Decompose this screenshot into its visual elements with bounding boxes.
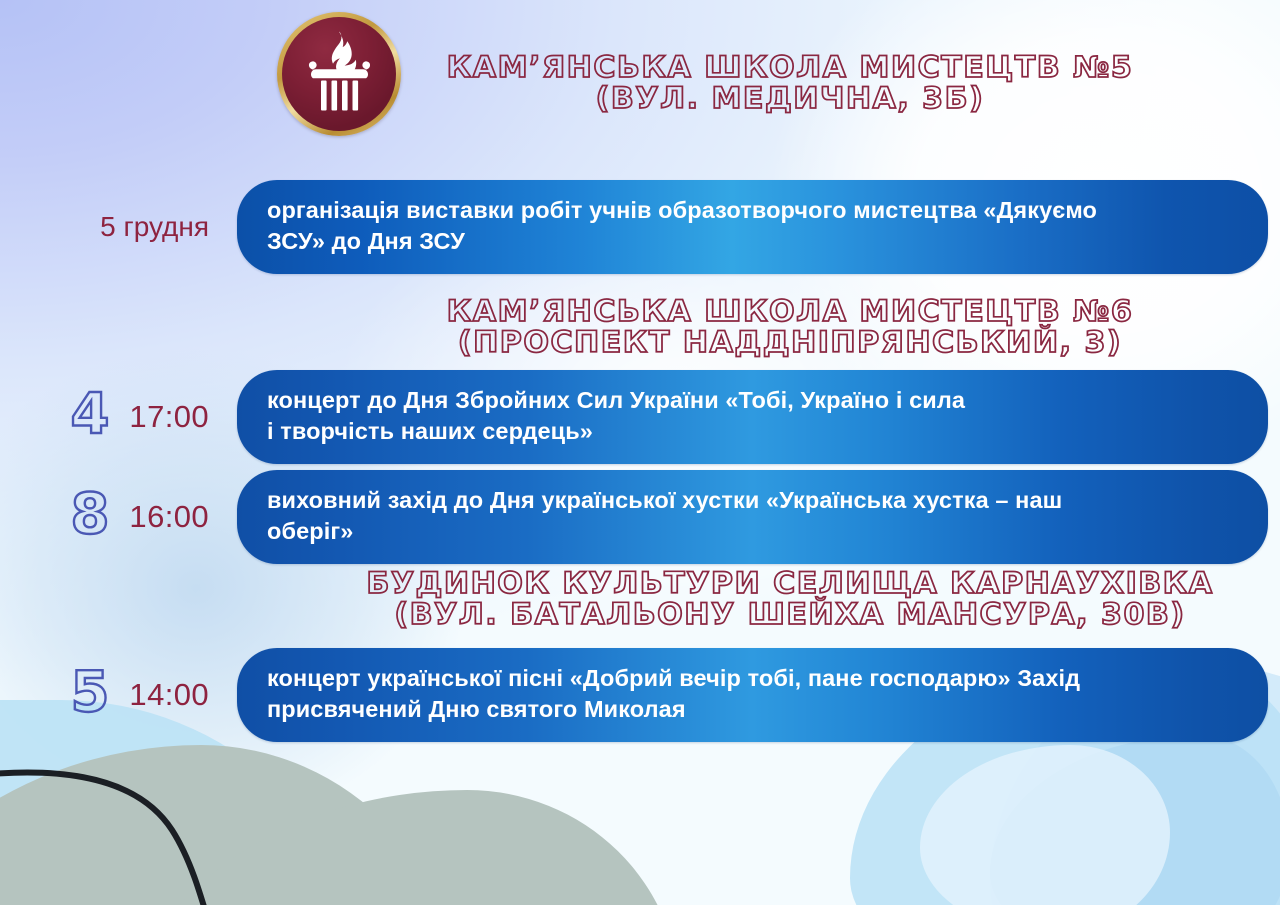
- event-date-column: 4 17:00: [0, 389, 237, 445]
- venue-heading-3-line-2: (ВУЛ. БАТАЛЬОНУ ШЕЙХА МАНСУРА, 30В): [353, 599, 1227, 630]
- event-description-line: оберіг»: [267, 516, 1238, 547]
- event-date-column: 5 14:00: [0, 667, 237, 723]
- event-row: 4 17:00 концерт до Дня Збройних Сил Укра…: [0, 370, 1280, 464]
- event-description-line: ЗСУ» до Дня ЗСУ: [267, 226, 1238, 257]
- venue-heading-3: БУДИНОК КУЛЬТУРИ СЕЛИЩА КАРНАУХІВКА (ВУЛ…: [353, 568, 1227, 629]
- event-time: 16:00: [129, 499, 209, 535]
- event-row: 5 14:00 концерт української пісні «Добри…: [0, 648, 1280, 742]
- poster-content: КАМ’ЯНСЬКА ШКОЛА МИСТЕЦТВ №5 (ВУЛ. МЕДИЧ…: [0, 0, 1280, 905]
- event-description-pill: концерт української пісні «Добрий вечір …: [237, 648, 1268, 742]
- event-day-number: 5: [70, 665, 109, 721]
- event-description-pill: виховний захід до Дня української хустки…: [237, 470, 1268, 564]
- event-description-line: присвячений Дню святого Миколая: [267, 694, 1238, 725]
- event-date-column: 5 грудня: [0, 211, 237, 243]
- venue-heading-2-line-2: (ПРОСПЕКТ НАДДНІПРЯНСЬКИЙ, 3): [416, 327, 1165, 358]
- venue-heading-1-line-1: КАМ’ЯНСЬКА ШКОЛА МИСТЕЦТВ №5: [416, 52, 1165, 83]
- event-row: 8 16:00 виховний захід до Дня українсько…: [0, 470, 1280, 564]
- event-time: 14:00: [129, 677, 209, 713]
- venue-heading-1-line-2: (ВУЛ. МЕДИЧНА, 3Б): [416, 83, 1165, 114]
- event-description-line: концерт української пісні «Добрий вечір …: [267, 663, 1238, 694]
- venue-heading-3-line-1: БУДИНОК КУЛЬТУРИ СЕЛИЩА КАРНАУХІВКА: [353, 568, 1227, 599]
- event-description-line: концерт до Дня Збройних Сил України «Тоб…: [267, 385, 1238, 416]
- event-day-number: 8: [70, 487, 109, 543]
- event-date-column: 8 16:00: [0, 489, 237, 545]
- column-with-flame-icon: [282, 17, 396, 131]
- art-school-emblem: [277, 12, 401, 136]
- venue-heading-2-line-1: КАМ’ЯНСЬКА ШКОЛА МИСТЕЦТВ №6: [416, 296, 1165, 327]
- event-description-pill: організація виставки робіт учнів образот…: [237, 180, 1268, 274]
- event-date-text: 5 грудня: [100, 211, 209, 243]
- venue-heading-2: КАМ’ЯНСЬКА ШКОЛА МИСТЕЦТВ №6 (ПРОСПЕКТ Н…: [416, 296, 1165, 357]
- event-description-line: організація виставки робіт учнів образот…: [267, 195, 1238, 226]
- event-description-pill: концерт до Дня Збройних Сил України «Тоб…: [237, 370, 1268, 464]
- venue-heading-1: КАМ’ЯНСЬКА ШКОЛА МИСТЕЦТВ №5 (ВУЛ. МЕДИЧ…: [416, 52, 1165, 113]
- event-description-line: і творчість наших сердець»: [267, 416, 1238, 447]
- event-row: 5 грудня організація виставки робіт учні…: [0, 180, 1280, 274]
- event-time: 17:00: [129, 399, 209, 435]
- event-description-line: виховний захід до Дня української хустки…: [267, 485, 1238, 516]
- event-day-number: 4: [70, 387, 109, 443]
